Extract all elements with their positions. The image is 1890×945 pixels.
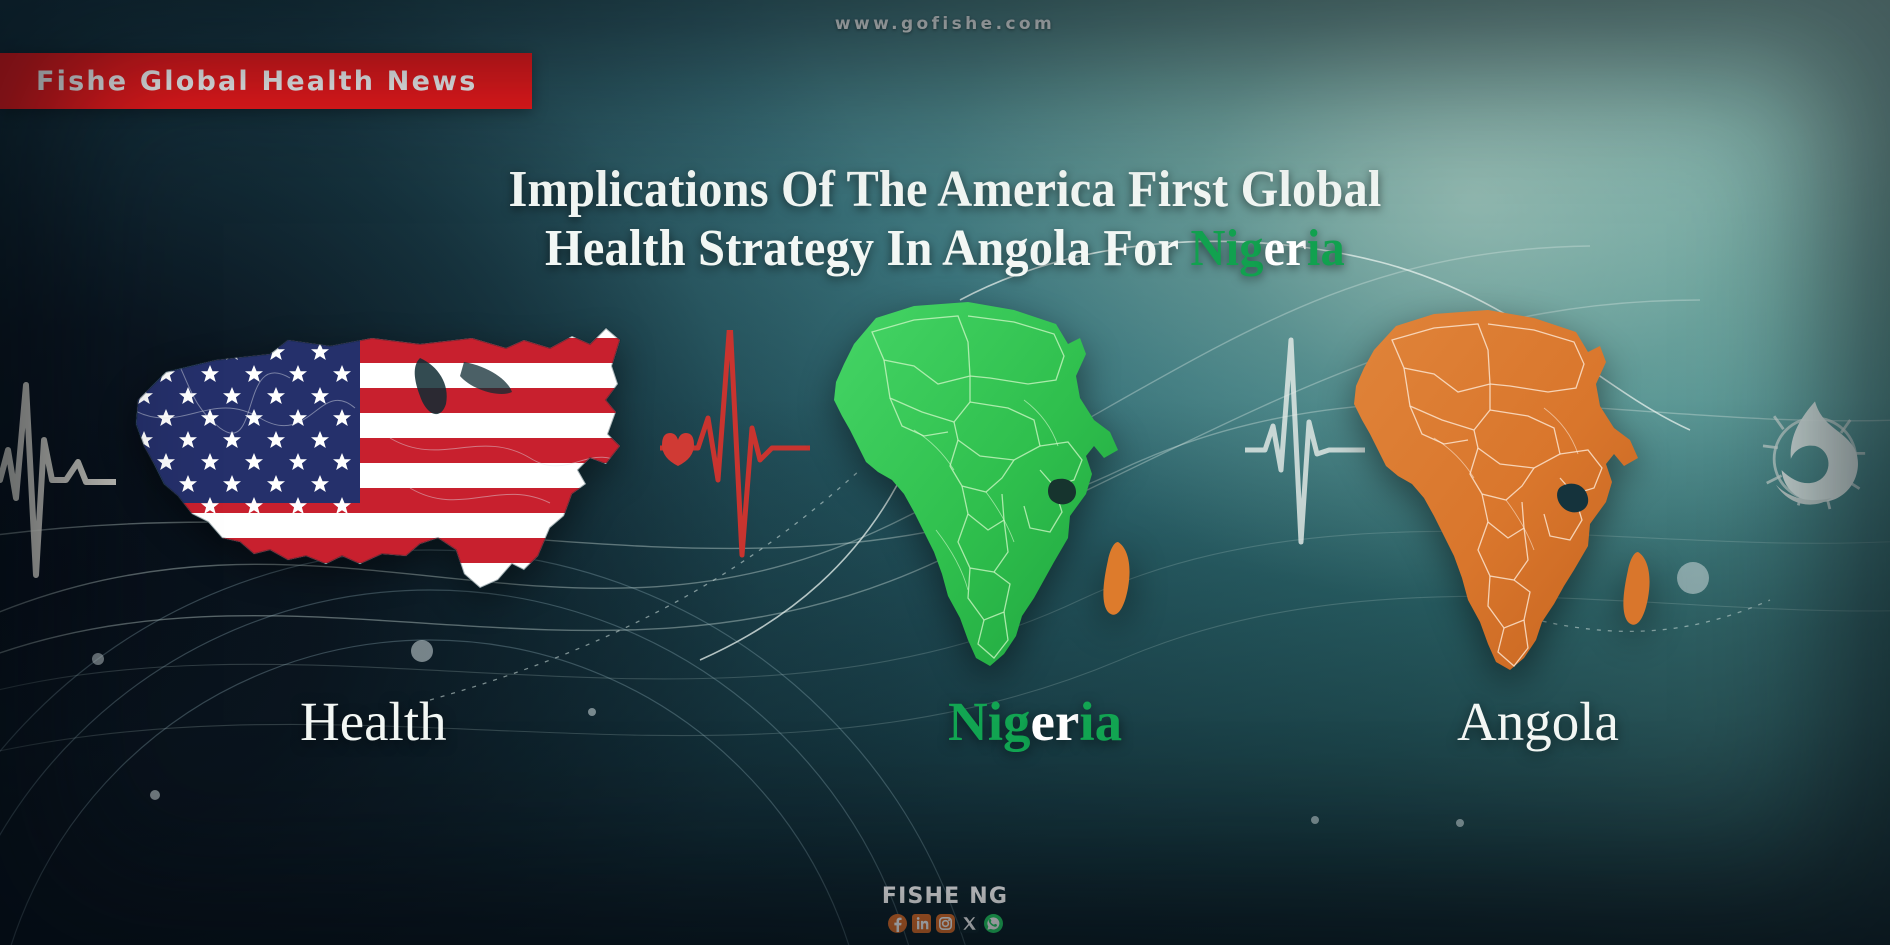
vignette-overlay — [0, 0, 1890, 945]
poster-canvas: www.gofishe.com Fishe Global Health News… — [0, 0, 1890, 945]
